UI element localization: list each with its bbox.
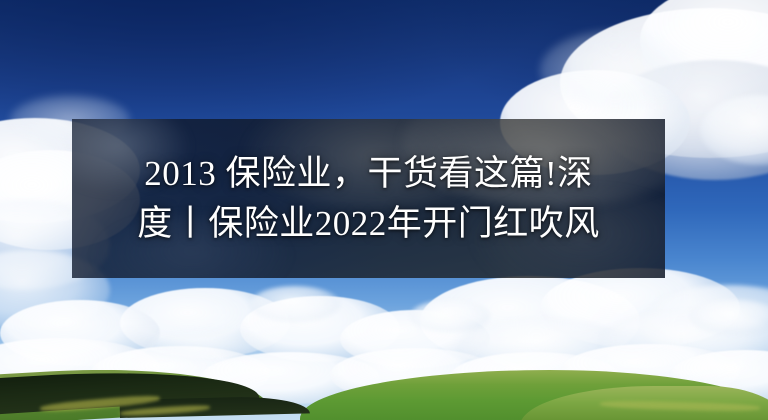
screenshot-root: 2013 保险业，干货看这篇!深 度丨保险业2022年开门红吹风 [0, 0, 768, 420]
text-overlay-band [72, 119, 665, 278]
band-cloud-left [72, 119, 192, 195]
band-cloud-bottom-right [472, 189, 665, 278]
band-cloud-lower-left [92, 215, 292, 278]
band-cloud-center [242, 119, 502, 209]
band-cloud-right [402, 119, 665, 207]
